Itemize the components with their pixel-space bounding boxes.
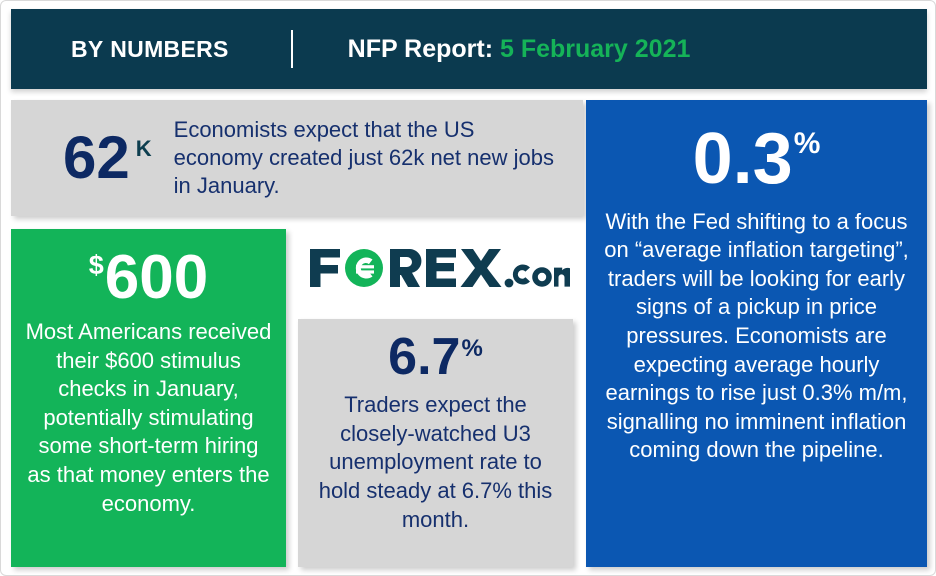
stat-value-03: 0.3% (693, 122, 821, 198)
infographic-root: BY NUMBERS NFP Report: 5 February 2021 6… (0, 0, 936, 576)
stat-body-62k: Economists expect that the US economy cr… (174, 116, 565, 200)
header-kicker: BY NUMBERS (71, 36, 229, 63)
forex-dot-com-logo (308, 244, 570, 292)
header-bar: BY NUMBERS NFP Report: 5 February 2021 (11, 9, 927, 89)
stat-body-600: Most Americans received their $600 stimu… (25, 318, 272, 518)
header-report-date: 5 February 2021 (500, 35, 690, 63)
stat-number: 600 (105, 243, 208, 312)
stat-unit-dollar: $ (89, 250, 104, 280)
header-title: NFP Report: 5 February 2021 (348, 35, 691, 64)
stat-body-67: Traders expect the closely-watched U3 un… (310, 391, 561, 534)
stat-card-03: 0.3% With the Fed shifting to a focus on… (586, 100, 927, 567)
stat-value-62k: 62K (63, 128, 152, 188)
stat-value-67: 6.7% (388, 329, 483, 386)
stat-number: 0.3 (693, 119, 793, 199)
forex-logo-svg (308, 245, 570, 291)
header-divider (291, 30, 293, 68)
stat-unit-thousands: K (136, 136, 152, 161)
stat-value-600: $600 (89, 245, 208, 312)
stat-number: 62 (63, 124, 130, 191)
header-title-label: NFP Report: (348, 35, 493, 63)
stat-card-600: $600 Most Americans received their $600 … (11, 229, 286, 567)
stat-card-67: 6.7% Traders expect the closely-watched … (298, 319, 573, 567)
stat-unit-percent: % (461, 335, 482, 362)
header-kicker-bold: NUMBERS (110, 36, 228, 62)
stat-unit-percent: % (794, 127, 821, 160)
stat-body-03: With the Fed shifting to a focus on “ave… (602, 208, 911, 465)
stat-card-62k: 62K Economists expect that the US econom… (11, 100, 583, 216)
stat-number: 6.7 (388, 328, 460, 386)
header-kicker-light: BY (71, 36, 104, 62)
